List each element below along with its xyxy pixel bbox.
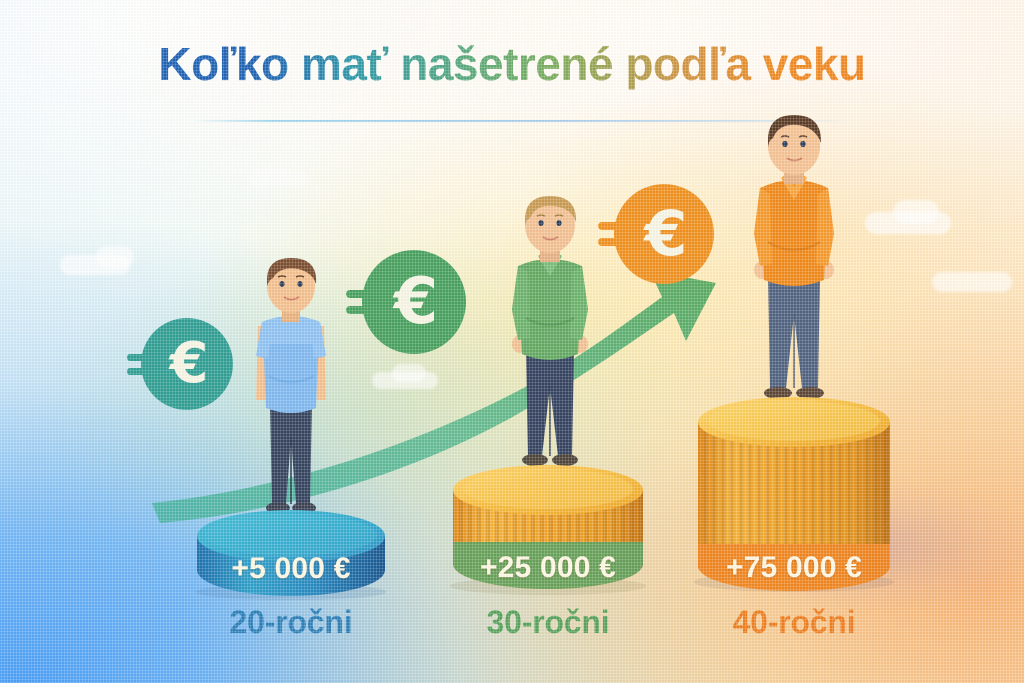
- infographic-canvas: Koľko mať našetrené podľa veku € € €: [0, 0, 1024, 683]
- halftone-texture-overlay: [0, 0, 1024, 683]
